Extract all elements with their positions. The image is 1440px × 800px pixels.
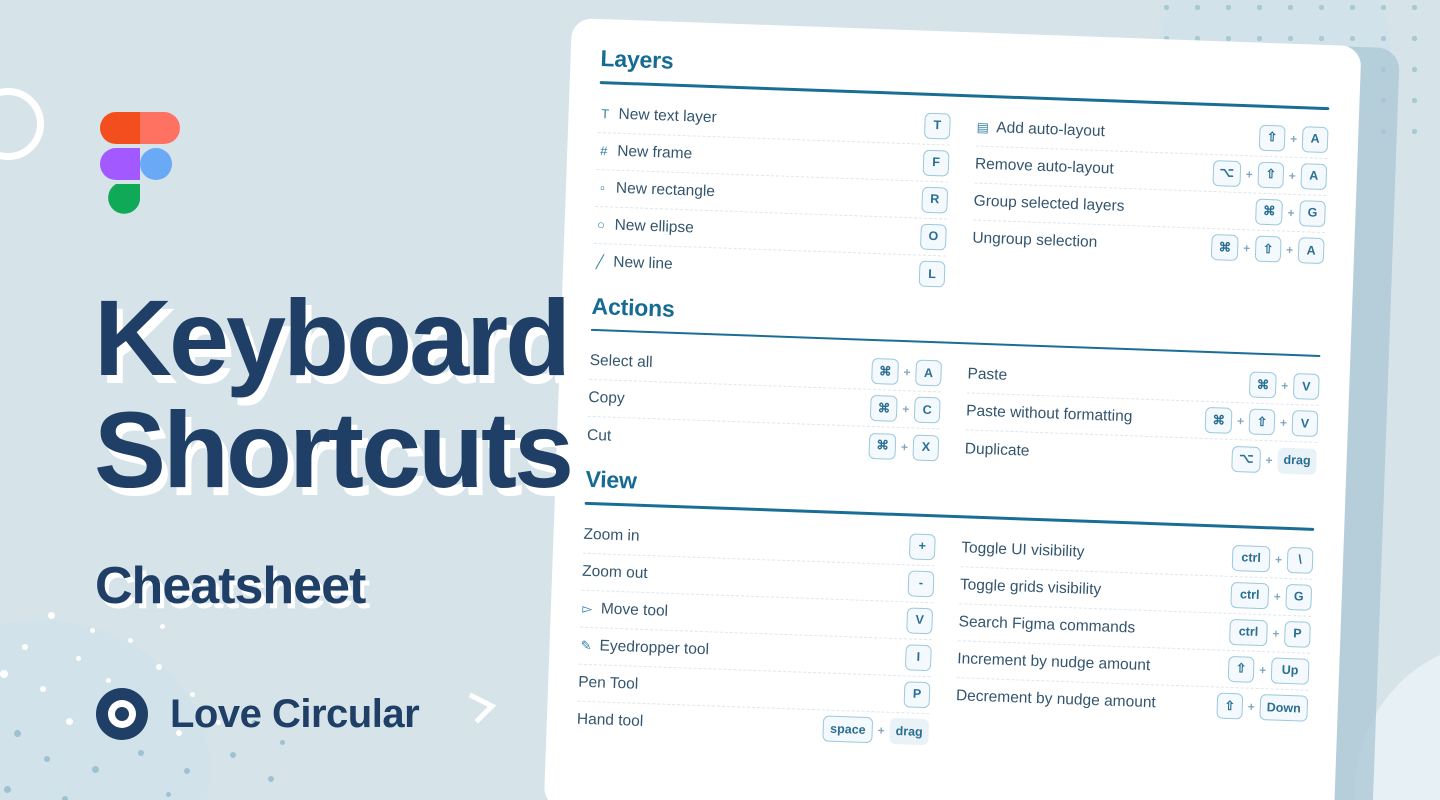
shortcut-keys: ⌥+drag <box>1232 445 1317 474</box>
shortcut-label-wrap: ✎Eyedropper tool <box>579 636 897 665</box>
key-cap: I <box>905 644 932 671</box>
text-icon: T <box>598 106 612 121</box>
shortcut-keys: ctrl+G <box>1230 581 1312 610</box>
shortcut-label: Move tool <box>601 600 669 620</box>
shortcut-label-wrap: Toggle UI visibility <box>961 539 1224 566</box>
shortcut-column-right: Toggle UI visibilityctrl+\Toggle grids v… <box>954 530 1314 764</box>
shortcut-label: Add auto-layout <box>996 119 1105 141</box>
shortcut-label-wrap: Pen Tool <box>578 673 896 702</box>
shortcut-column-right: ▤Add auto-layout⇧+ARemove auto-layout⌥+⇧… <box>970 109 1328 306</box>
key-cap: X <box>912 434 939 461</box>
key-cap: ⇧ <box>1228 655 1255 682</box>
key-separator: + <box>1274 589 1282 603</box>
shortcut-label-wrap: Paste without formatting <box>966 402 1198 428</box>
key-cap: ⌘ <box>1211 234 1238 261</box>
shortcut-keys: T <box>924 112 951 139</box>
shortcut-column-left: Zoom in+Zoom out-▻Move toolV✎Eyedropper … <box>576 516 936 750</box>
key-cap: ⌘ <box>1249 371 1276 398</box>
shortcut-keys: L <box>919 261 946 288</box>
shortcut-keys: ⌥+⇧+A <box>1212 160 1327 190</box>
shortcut-label-wrap: ○New ellipse <box>594 215 912 244</box>
key-cap: ⌥ <box>1212 160 1241 187</box>
key-cap: - <box>908 570 935 597</box>
key-cap: P <box>904 681 931 708</box>
shortcut-keys: ⇧+Up <box>1228 655 1310 684</box>
key-cap: F <box>923 149 950 176</box>
shortcut-label-wrap: ▫New rectangle <box>596 178 914 207</box>
shortcut-keys: ⇧+A <box>1259 124 1329 152</box>
shortcut-keys: O <box>920 223 947 250</box>
shortcut-keys: ⌘+A <box>872 358 942 386</box>
shortcut-label-wrap: Paste <box>967 365 1242 393</box>
key-separator: + <box>1243 241 1251 255</box>
shortcut-label: New rectangle <box>616 179 716 201</box>
shortcut-label-wrap: TNew text layer <box>598 105 916 134</box>
shortcut-label-wrap: Zoom out <box>582 562 900 591</box>
title-line-1: Keyboard <box>94 286 654 390</box>
shortcut-keys: - <box>908 570 935 597</box>
shortcut-keys: I <box>905 644 932 671</box>
shortcut-label: Group selected layers <box>973 192 1124 215</box>
shortcut-label: New text layer <box>618 105 717 127</box>
key-separator: + <box>1289 168 1297 182</box>
shortcut-keys: ⌘+G <box>1256 198 1326 226</box>
key-cap: A <box>1298 237 1325 264</box>
shortcut-column-right: Paste⌘+VPaste without formatting⌘+⇧+VDup… <box>964 356 1320 480</box>
shortcut-label: Eyedropper tool <box>599 637 709 659</box>
key-cap: G <box>1285 583 1312 610</box>
shortcut-keys: + <box>909 533 936 560</box>
key-separator: + <box>902 402 910 416</box>
key-separator: + <box>1237 414 1245 428</box>
key-separator: + <box>1286 243 1294 257</box>
section-layers: LayersTNew text layerT#New frameF▫New re… <box>593 45 1331 306</box>
key-separator: + <box>1287 205 1295 219</box>
key-cap: ctrl <box>1229 618 1268 645</box>
shortcut-keys: ⌘+X <box>869 432 939 460</box>
key-separator: + <box>1259 663 1267 677</box>
key-separator: + <box>1246 167 1254 181</box>
shortcut-keys: V <box>906 607 933 634</box>
key-cap: space <box>823 715 873 743</box>
shortcut-label-wrap: Toggle grids visibility <box>960 576 1223 603</box>
key-separator: + <box>1275 552 1283 566</box>
key-cap: V <box>1293 373 1320 400</box>
key-cap: drag <box>889 718 929 745</box>
key-cap: ⌘ <box>1256 198 1283 225</box>
key-cap: V <box>1292 410 1319 437</box>
shortcut-label-wrap: ▻Move tool <box>581 599 899 628</box>
key-cap: ⇧ <box>1249 408 1276 435</box>
section-view: ViewZoom in+Zoom out-▻Move toolV✎Eyedrop… <box>576 466 1315 764</box>
shortcut-label-wrap: ▤Add auto-layout <box>976 118 1251 146</box>
title-line-2: Shortcuts <box>94 398 654 502</box>
key-separator: + <box>1248 700 1256 714</box>
key-cap: ⇧ <box>1216 693 1243 720</box>
section-actions: ActionsSelect all⌘+ACopy⌘+CCut⌘+XPaste⌘+… <box>586 292 1321 480</box>
shortcut-label-wrap: Ungroup selection <box>972 229 1204 255</box>
key-separator: + <box>1281 379 1289 393</box>
key-cap: L <box>919 261 946 288</box>
poster-canvas: LayersTNew text layerT#New frameF▫New re… <box>0 0 1440 800</box>
figma-logo-icon <box>92 112 188 248</box>
shortcut-label: New frame <box>617 142 693 163</box>
key-cap: + <box>909 533 936 560</box>
shortcut-label: Decrement by nudge amount <box>956 687 1156 712</box>
shortcut-keys: ctrl+\ <box>1232 544 1314 573</box>
key-cap: \ <box>1287 546 1314 573</box>
key-cap: A <box>1302 126 1329 153</box>
key-separator: + <box>1280 416 1288 430</box>
key-cap: ctrl <box>1232 544 1271 571</box>
circular-target-icon <box>96 688 148 740</box>
key-cap: ⌘ <box>869 432 896 459</box>
shortcut-label-wrap: ╱New line <box>593 253 911 282</box>
key-separator: + <box>877 723 885 737</box>
key-cap: T <box>924 112 951 139</box>
key-cap: C <box>914 397 941 424</box>
brand-footer: Love Circular <box>96 688 419 740</box>
key-cap: ⇧ <box>1259 124 1286 151</box>
shortcut-label: Remove auto-layout <box>975 155 1114 178</box>
shortcut-keys: P <box>904 681 931 708</box>
shortcut-keys: space+drag <box>823 715 929 745</box>
key-cap: R <box>921 186 948 213</box>
shortcut-label: New line <box>613 254 673 274</box>
key-cap: Up <box>1271 657 1310 684</box>
key-cap: ⌘ <box>872 358 899 385</box>
shortcut-keys: R <box>921 186 948 213</box>
shortcut-label: Search Figma commands <box>958 613 1135 637</box>
shortcuts-card: LayersTNew text layerT#New frameF▫New re… <box>544 18 1362 800</box>
key-cap: ⌥ <box>1232 445 1261 472</box>
key-cap: G <box>1299 200 1326 227</box>
shortcut-label: Duplicate <box>965 440 1030 460</box>
brand-name: Love Circular <box>170 692 419 737</box>
key-cap: ⇧ <box>1255 236 1282 263</box>
shortcut-label-wrap: Hand tool <box>577 711 816 738</box>
page-title: Keyboard Shortcuts <box>94 286 654 501</box>
page-subtitle: Cheatsheet <box>95 556 365 616</box>
key-cap: drag <box>1277 447 1317 474</box>
shortcut-keys: ctrl+P <box>1229 618 1311 647</box>
shortcut-label-wrap: Duplicate <box>965 440 1225 467</box>
shortcut-label-wrap: Group selected layers <box>973 192 1248 220</box>
key-cap: ⇧ <box>1257 161 1284 188</box>
shortcut-label: Toggle grids visibility <box>960 576 1102 599</box>
shortcut-label: New ellipse <box>614 216 694 237</box>
branding-column: Keyboard Shortcuts Cheatsheet Love Circu… <box>0 0 600 800</box>
auto-layout-icon: ▤ <box>976 119 990 135</box>
key-separator: + <box>1290 131 1298 145</box>
key-separator: + <box>1272 626 1280 640</box>
shortcut-keys: ⌘+⇧+V <box>1205 407 1318 437</box>
shortcut-label: Paste without formatting <box>966 402 1133 426</box>
shortcut-keys: F <box>923 149 950 176</box>
shortcut-keys: ⌘+C <box>870 395 940 423</box>
key-cap: ctrl <box>1230 581 1269 608</box>
shortcut-label-wrap: Decrement by nudge amount <box>956 687 1209 714</box>
shortcut-label-wrap: Search Figma commands <box>958 613 1221 640</box>
key-cap: Down <box>1259 694 1308 722</box>
shortcut-label: Ungroup selection <box>972 229 1098 251</box>
shortcut-column-left: TNew text layerT#New frameF▫New rectangl… <box>593 96 951 293</box>
key-separator: + <box>903 365 911 379</box>
shortcut-keys: ⌘+V <box>1249 371 1319 399</box>
key-cap: O <box>920 223 947 250</box>
shortcut-label-wrap: Remove auto-layout <box>975 155 1205 181</box>
shortcut-keys: ⇧+Down <box>1216 693 1308 722</box>
shortcut-label-wrap: Increment by nudge amount <box>957 650 1220 677</box>
key-cap: A <box>1300 163 1327 190</box>
key-separator: + <box>901 440 909 454</box>
key-cap: ⌘ <box>1205 407 1232 434</box>
key-cap: V <box>906 607 933 634</box>
section-heading: Layers <box>600 45 1330 98</box>
shortcut-label: Toggle UI visibility <box>961 539 1085 561</box>
shortcut-label: Increment by nudge amount <box>957 650 1151 675</box>
key-cap: A <box>915 360 942 387</box>
key-cap: ⌘ <box>870 395 897 422</box>
key-cap: P <box>1284 620 1311 647</box>
shortcut-keys: ⌘+⇧+A <box>1211 234 1324 264</box>
shortcut-label: Paste <box>967 365 1007 384</box>
key-separator: + <box>1265 453 1273 467</box>
shortcut-label-wrap: Zoom in <box>583 525 901 554</box>
shortcut-label-wrap: #New frame <box>597 141 915 170</box>
